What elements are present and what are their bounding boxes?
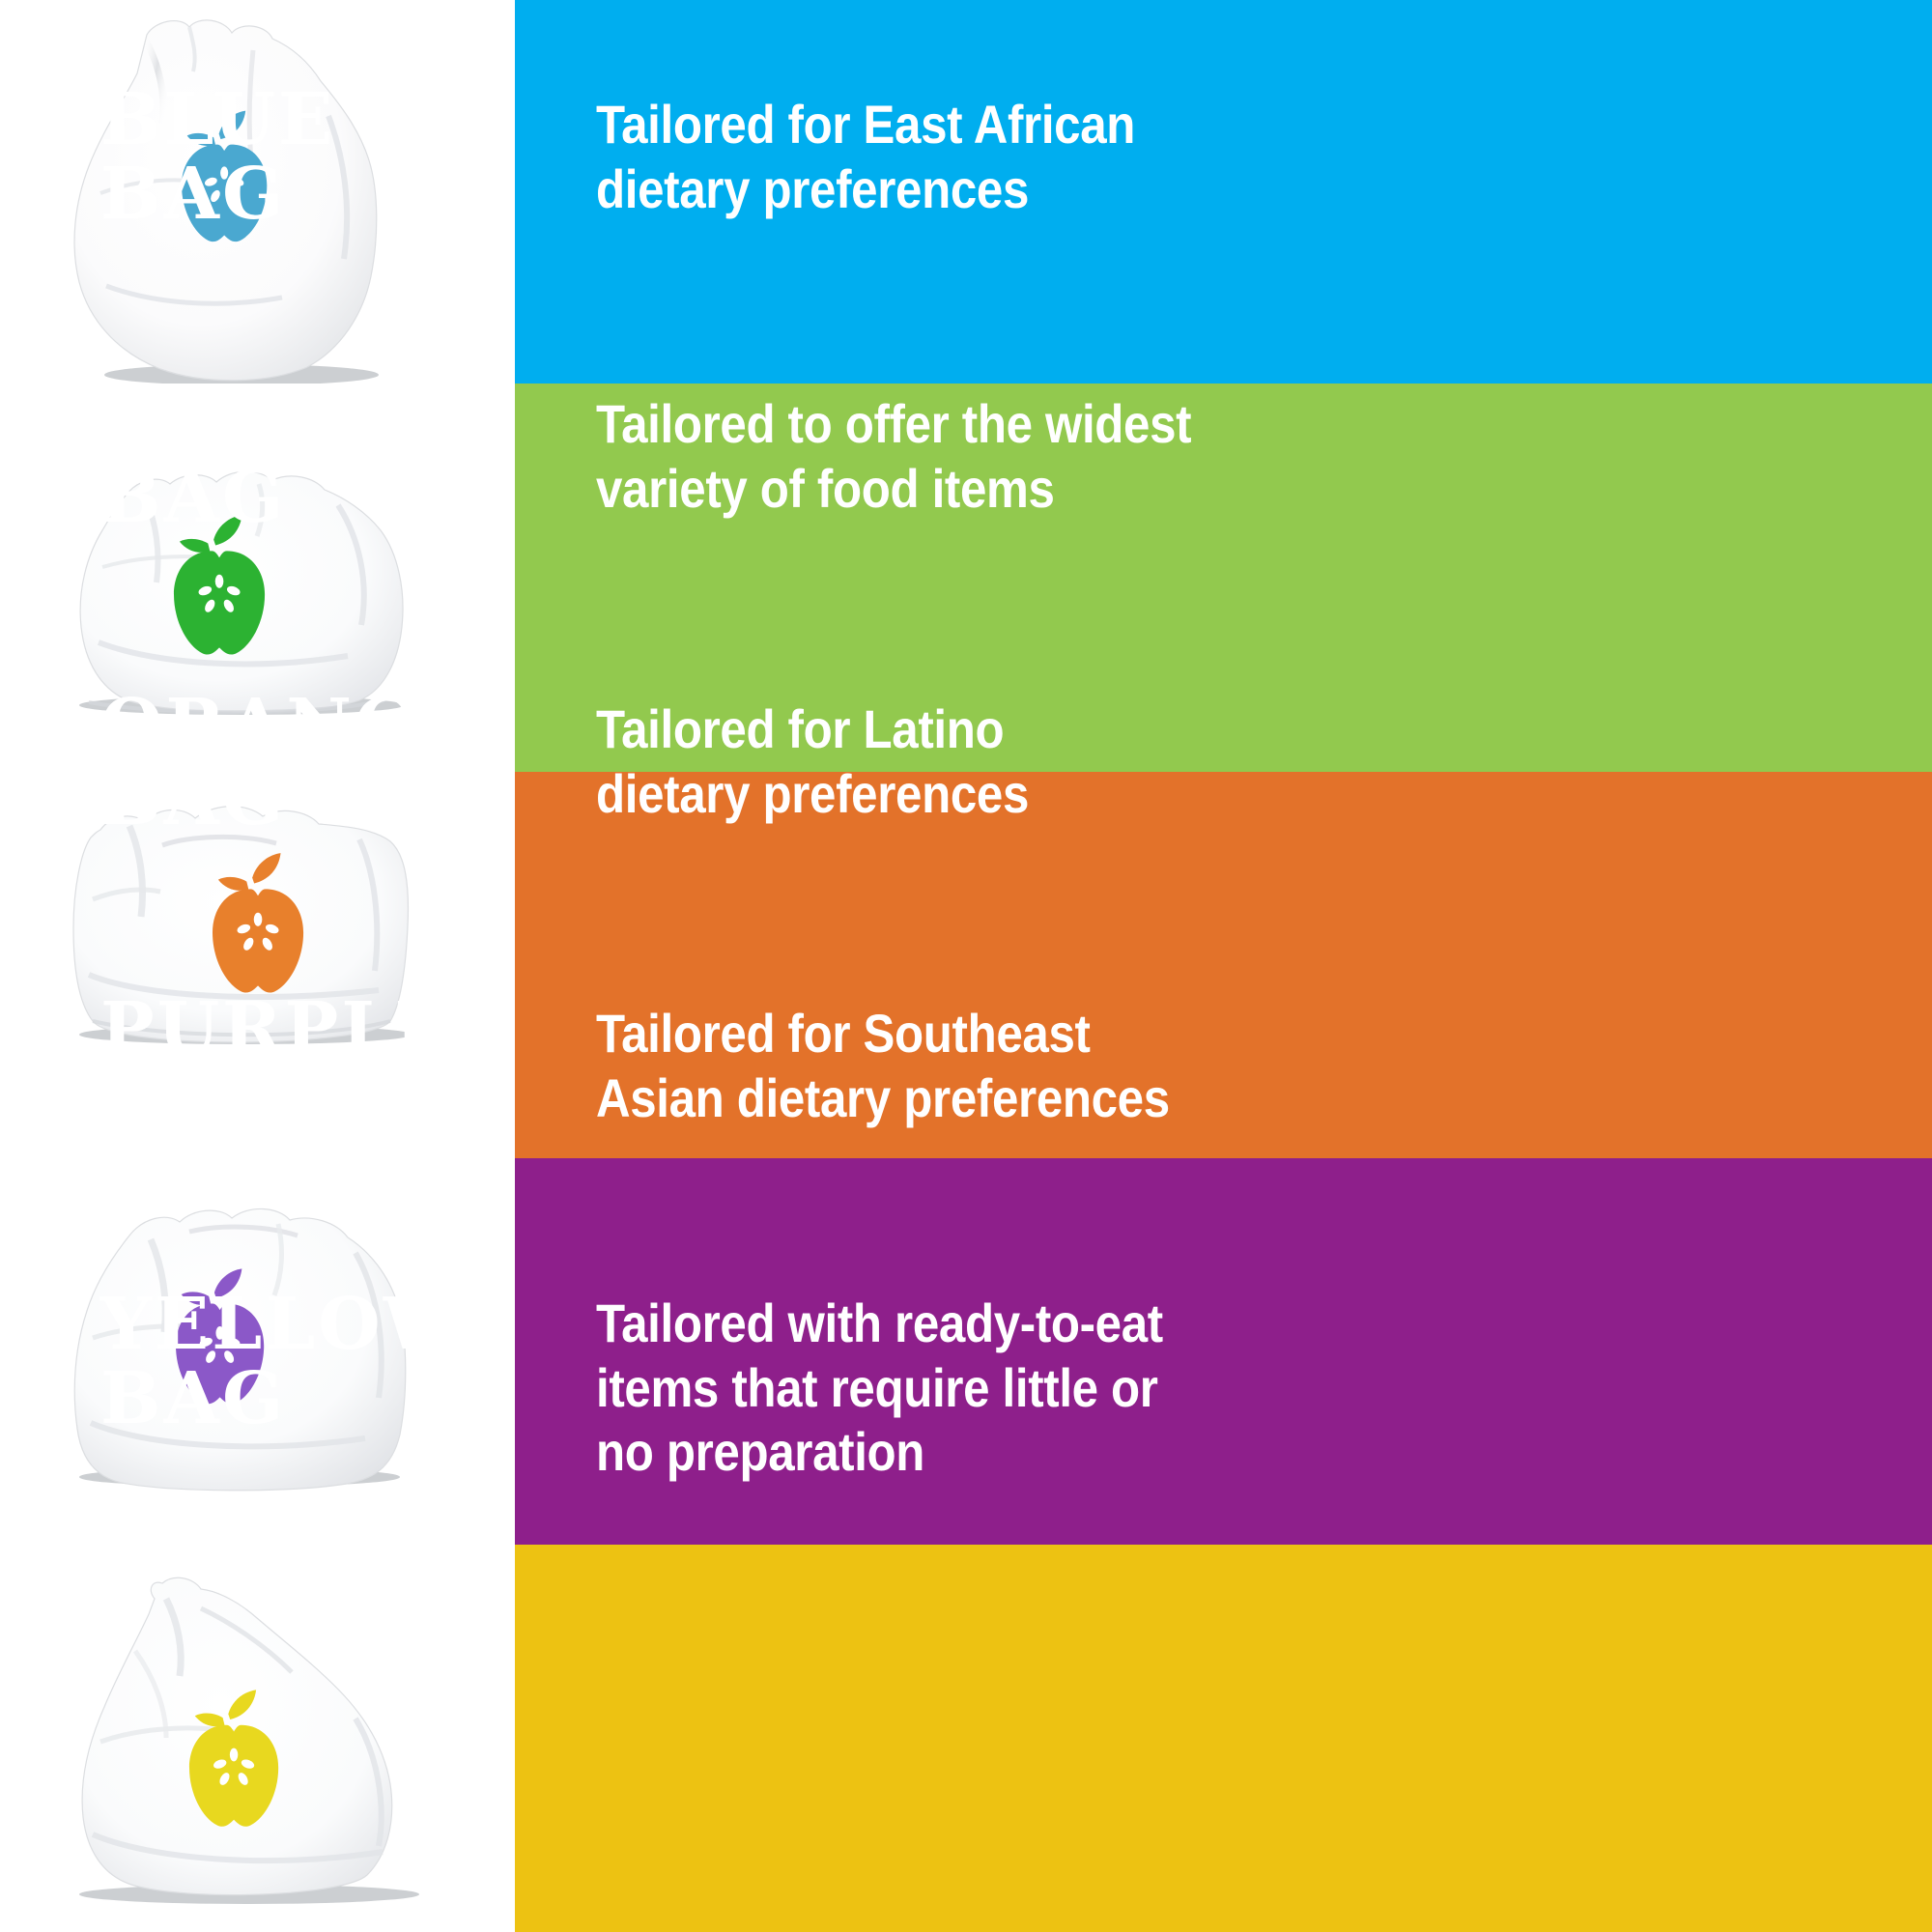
bag-description-green: Tailored to offer the widest variety of … — [596, 392, 1259, 521]
color-panel-yellow — [515, 1545, 1932, 1932]
bag-description-blue: Tailored for East African dietary prefer… — [596, 93, 1259, 221]
bag-description-yellow: Tailored with ready-to-eat items that re… — [596, 1292, 1259, 1485]
bag-desc-line1: Tailored for East African — [596, 93, 1259, 157]
bag-title-line1: PURPLE — [100, 992, 468, 1066]
bag-title-line1: BLUE — [100, 83, 468, 157]
infographic-sheet: BLUE BAG Tailored for East African dieta… — [0, 0, 1932, 1932]
bag-title-yellow: YELLOW BAG — [100, 1288, 468, 1436]
bag-desc-line1: Tailored with ready-to-eat — [596, 1292, 1259, 1356]
bag-title-blue: BLUE BAG — [100, 83, 468, 232]
bag-title-line2: BAG — [100, 1362, 468, 1436]
bag-title-orange: ORANGE BAG — [100, 689, 468, 838]
bag-photo-yellow — [0, 1545, 515, 1932]
bag-image-yellow — [0, 1545, 515, 1932]
bag-desc-line2: dietary preferences — [596, 157, 1259, 222]
bag-title-green: GREEN BAG — [100, 386, 468, 535]
bag-desc-line3: no preparation — [596, 1420, 1259, 1485]
bag-description-purple: Tailored for Southeast Asian dietary pre… — [596, 1002, 1259, 1130]
bag-row-blue: BLUE BAG Tailored for East African dieta… — [0, 0, 1932, 384]
bag-title-line2: BAG — [100, 157, 468, 232]
bag-desc-line1: Tailored for Latino — [596, 697, 1259, 762]
bag-desc-line1: Tailored for Southeast — [596, 1002, 1259, 1066]
bag-desc-line2: items that require little or — [596, 1356, 1259, 1421]
bag-title-line2: BAG — [100, 461, 468, 535]
bag-title-line1: YELLOW — [100, 1288, 468, 1362]
bag-title-purple: PURPLE BAG — [100, 992, 468, 1141]
bag-row-yellow: YELLOW BAG Tailored with ready-to-eat it… — [0, 1545, 1932, 1932]
bag-title-line2: BAG — [100, 763, 468, 838]
bag-description-orange: Tailored for Latino dietary preferences — [596, 697, 1259, 826]
bag-title-line1: ORANGE — [100, 689, 468, 763]
bag-desc-line1: Tailored to offer the widest — [596, 392, 1259, 457]
bag-title-line2: BAG — [100, 1066, 468, 1141]
bag-desc-line2: variety of food items — [596, 457, 1259, 522]
bag-desc-line2: Asian dietary preferences — [596, 1066, 1259, 1131]
bag-desc-line2: dietary preferences — [596, 762, 1259, 827]
bag-title-line1: GREEN — [100, 386, 468, 461]
